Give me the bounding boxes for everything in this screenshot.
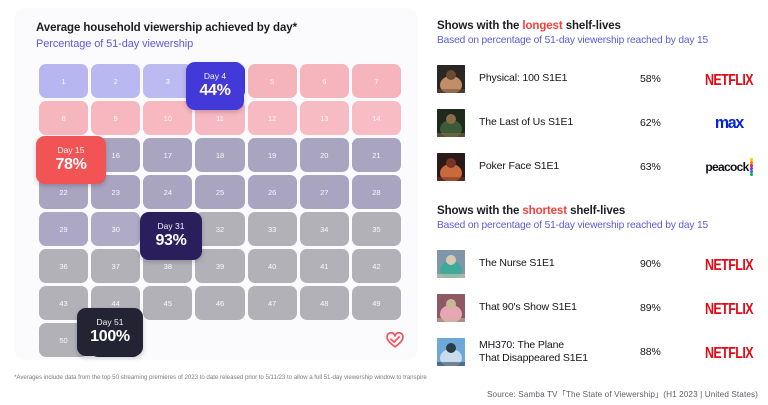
day-cell-label: 23 [112,188,120,197]
day-cell-47[interactable]: 47 [248,286,297,320]
day-cell-39[interactable]: 39 [195,249,244,283]
day-cell-32[interactable]: 32 [195,212,244,246]
peacock-feather-dots [750,158,753,176]
show-title: Physical: 100 S1E1 [465,72,640,85]
day-cell-label: 27 [320,188,328,197]
day-cell-1[interactable]: 1 [39,64,88,98]
day-cell-30[interactable]: 30 [91,212,140,246]
day-cell-label: 1 [61,77,65,86]
show-row[interactable]: Physical: 100 S1E158%NETFLIX [437,57,768,101]
longest-title-post: shelf-lives [563,20,621,32]
streaming-service-logo: NETFLIX [690,257,768,272]
longest-show-list: Physical: 100 S1E158%NETFLIXThe Last of … [437,57,768,189]
day-cell-label: 11 [216,114,224,123]
show-percentage: 62% [640,117,690,129]
day-cell-label: 22 [59,188,67,197]
day-cell-label: 14 [372,114,380,123]
day-cell-label: 5 [270,77,274,86]
day-cell-label: 10 [164,114,172,123]
day-cell-34[interactable]: 34 [300,212,349,246]
day-cell-7[interactable]: 7 [352,64,401,98]
day-cell-label: 12 [268,114,276,123]
streaming-service-logo: NETFLIX [690,345,768,360]
day-cell-label: 34 [320,225,328,234]
day-cell-8[interactable]: 8 [39,101,88,135]
day-cell-label: 47 [268,299,276,308]
day-cell-41[interactable]: 41 [300,249,349,283]
day-cell-14[interactable]: 14 [352,101,401,135]
shortest-section-subtitle: Based on percentage of 51-day viewership… [437,220,768,231]
callout-day-15-label: Day 15 [58,146,85,156]
day-cell-label: 49 [372,299,380,308]
show-thumbnail [437,338,465,366]
day-cell-label: 19 [268,151,276,160]
day-cell-10[interactable]: 10 [143,101,192,135]
day-cell-42[interactable]: 42 [352,249,401,283]
day-cell-label: 28 [372,188,380,197]
show-title: Poker Face S1E1 [465,160,640,173]
netflix-logo: NETFLIX [705,299,753,317]
day-cell-label: 38 [164,262,172,271]
callout-day-4[interactable]: Day 4 44% [186,62,244,110]
day-cell-label: 3 [166,77,170,86]
day-cell-label: 9 [114,114,118,123]
longest-shelf-lives-section: Shows with the longest shelf-lives Based… [437,20,768,189]
day-cell-label: 39 [216,262,224,271]
show-row[interactable]: Poker Face S1E163%peacock [437,145,768,189]
day-cell-label: 41 [320,262,328,271]
day-cell-label: 18 [216,151,224,160]
day-cell-5[interactable]: 5 [248,64,297,98]
day-cell-45[interactable]: 45 [143,286,192,320]
max-logo: max [715,113,743,133]
shortest-title-emphasis: shortest [522,205,567,217]
callout-day-51-label: Day 51 [97,318,124,328]
longest-section-title: Shows with the longest shelf-lives [437,20,768,32]
day-cell-21[interactable]: 21 [352,138,401,172]
day-cell-label: 8 [61,114,65,123]
show-percentage: 88% [640,346,690,358]
shortest-show-list: The Nurse S1E190%NETFLIXThat 90's Show S… [437,242,768,374]
viewership-calendar-card: Average household viewership achieved by… [14,8,418,360]
day-cell-33[interactable]: 33 [248,212,297,246]
day-cell-24[interactable]: 24 [143,175,192,209]
day-cell-label: 48 [320,299,328,308]
streaming-service-logo: NETFLIX [690,72,768,87]
show-percentage: 89% [640,302,690,314]
day-cell-label: 7 [374,77,378,86]
day-cell-17[interactable]: 17 [143,138,192,172]
day-cell-label: 25 [216,188,224,197]
card-subtitle: Percentage of 51-day viewership [36,38,193,50]
day-cell-28[interactable]: 28 [352,175,401,209]
shelf-life-panel: Shows with the longest shelf-lives Based… [437,0,768,405]
day-cell-label: 43 [59,299,67,308]
longest-title-emphasis: longest [522,20,562,32]
day-cell-label: 13 [320,114,328,123]
show-row[interactable]: That 90's Show S1E189%NETFLIX [437,286,768,330]
day-cell-label: 2 [114,77,118,86]
show-percentage: 58% [640,73,690,85]
day-cell-label: 30 [112,225,120,234]
callout-day-31[interactable]: Day 31 93% [140,212,202,260]
day-cell-label: 35 [372,225,380,234]
shortest-section-title: Shows with the shortest shelf-lives [437,205,768,217]
day-cell-48[interactable]: 48 [300,286,349,320]
show-thumbnail [437,65,465,93]
callout-day-31-value: 93% [155,232,186,250]
show-title: That 90's Show S1E1 [465,301,640,314]
shortest-title-pre: Shows with the [437,205,522,217]
callout-day-4-value: 44% [199,82,230,100]
day-cell-37[interactable]: 37 [91,249,140,283]
longest-title-pre: Shows with the [437,20,522,32]
shortest-shelf-lives-section: Shows with the shortest shelf-lives Base… [437,205,768,374]
day-cell-18[interactable]: 18 [195,138,244,172]
show-title: The Last of Us S1E1 [465,116,640,129]
day-cell-label: 44 [112,299,120,308]
show-row[interactable]: The Nurse S1E190%NETFLIX [437,242,768,286]
streaming-service-logo: NETFLIX [690,301,768,316]
day-cell-12[interactable]: 12 [248,101,297,135]
day-cell-27[interactable]: 27 [300,175,349,209]
day-cell-2[interactable]: 2 [91,64,140,98]
day-cell-label: 45 [164,299,172,308]
netflix-logo: NETFLIX [705,255,753,273]
day-cell-label: 16 [112,151,120,160]
callout-day-51-value: 100% [90,328,130,346]
show-title: MH370: The PlaneThat Disappeared S1E1 [465,339,640,366]
source-attribution: Source: Samba TV「The State of Viewership… [487,388,758,400]
day-cell-9[interactable]: 9 [91,101,140,135]
show-row[interactable]: The Last of Us S1E162%max [437,101,768,145]
shortest-title-post: shelf-lives [567,205,625,217]
infographic-page: Average household viewership achieved by… [0,0,768,405]
day-cell-25[interactable]: 25 [195,175,244,209]
day-cell-label: 46 [216,299,224,308]
callout-day-51[interactable]: Day 51 100% [77,308,143,356]
day-cell-label: 50 [59,336,67,345]
day-cell-label: 36 [59,262,67,271]
day-cell-label: 20 [320,151,328,160]
day-cell-49[interactable]: 49 [352,286,401,320]
day-cell-35[interactable]: 35 [352,212,401,246]
show-percentage: 90% [640,258,690,270]
show-thumbnail [437,153,465,181]
day-cell-29[interactable]: 29 [39,212,88,246]
callout-day-4-label: Day 4 [204,72,226,82]
day-cell-label: 17 [164,151,172,160]
show-thumbnail [437,109,465,137]
day-cell-label: 29 [59,225,67,234]
show-thumbnail [437,250,465,278]
day-cell-label: 37 [112,262,120,271]
callout-day-15[interactable]: Day 15 78% [36,136,106,184]
day-cell-40[interactable]: 40 [248,249,297,283]
callout-day-31-label: Day 31 [158,222,185,232]
day-cell-20[interactable]: 20 [300,138,349,172]
footnote: *Averages include data from the top 50 s… [14,374,427,381]
card-title: Average household viewership achieved by… [36,22,297,34]
netflix-logo: NETFLIX [705,343,753,361]
day-cell-label: 6 [322,77,326,86]
day-cell-13[interactable]: 13 [300,101,349,135]
day-cell-46[interactable]: 46 [195,286,244,320]
day-cell-36[interactable]: 36 [39,249,88,283]
samba-tv-heart-icon [386,332,404,348]
day-cell-label: 40 [268,262,276,271]
streaming-service-logo: max [690,113,768,133]
peacock-logo: peacock [705,158,752,176]
callout-day-15-value: 78% [55,156,86,174]
day-cell-19[interactable]: 19 [248,138,297,172]
day-cell-label: 42 [372,262,380,271]
day-cell-label: 26 [268,188,276,197]
day-cell-26[interactable]: 26 [248,175,297,209]
day-cell-label: 21 [372,151,380,160]
day-cell-label: 33 [268,225,276,234]
show-row[interactable]: MH370: The PlaneThat Disappeared S1E188%… [437,330,768,374]
show-percentage: 63% [640,161,690,173]
longest-section-subtitle: Based on percentage of 51-day viewership… [437,35,768,46]
show-title: The Nurse S1E1 [465,257,640,270]
show-thumbnail [437,294,465,322]
streaming-service-logo: peacock [690,158,768,176]
day-cell-label: 24 [164,188,172,197]
netflix-logo: NETFLIX [705,70,753,88]
day-cell-6[interactable]: 6 [300,64,349,98]
day-cell-label: 32 [216,225,224,234]
